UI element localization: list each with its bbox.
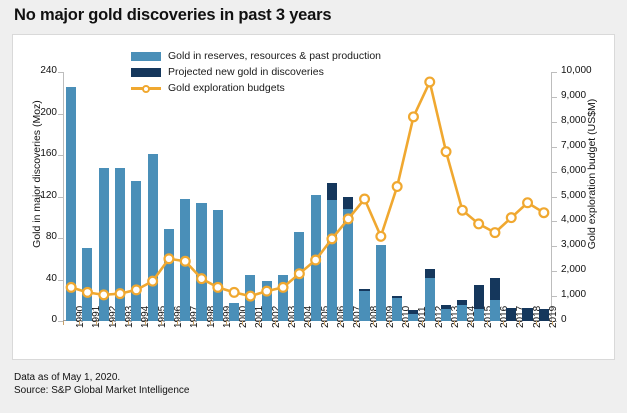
x-axis-tick (259, 321, 260, 325)
budget-line-marker (474, 219, 483, 228)
y-axis-left-tick (58, 114, 63, 115)
x-axis-tick (308, 321, 309, 325)
y-axis-right-title: Gold exploration budget (US$M) (586, 74, 598, 274)
bar-reserves (148, 154, 158, 321)
x-axis-tick (242, 321, 243, 325)
x-axis-tick (405, 321, 406, 325)
budget-line-marker (442, 147, 451, 156)
bar-reserves (457, 305, 467, 321)
x-axis-tick (438, 321, 439, 325)
y-axis-right-label: 5,000 (561, 190, 586, 201)
y-axis-right-tick (552, 221, 557, 222)
bar-reserves (229, 303, 239, 321)
y-axis-right-label: 4,000 (561, 214, 586, 225)
bar-reserves (376, 245, 386, 321)
y-axis-left-tick (58, 155, 63, 156)
bar-projected (359, 289, 369, 291)
bar-reserves (327, 200, 337, 321)
bar-projected (327, 183, 337, 200)
bar-reserves (490, 300, 500, 321)
y-axis-right-tick (552, 147, 557, 148)
bar-projected (392, 296, 402, 298)
y-axis-left-tick (58, 238, 63, 239)
bar-projected (408, 310, 418, 314)
bar-projected (457, 300, 467, 305)
y-axis-left-tick (58, 197, 63, 198)
bar-reserves (294, 232, 304, 321)
x-axis-tick (128, 321, 129, 325)
x-axis-label: 2019 (548, 306, 559, 328)
bar-projected (522, 308, 532, 321)
budget-line-marker (409, 112, 418, 121)
y-axis-right-tick (552, 296, 557, 297)
y-axis-right-tick (552, 271, 557, 272)
y-axis-right-label: 10,000 (561, 65, 592, 76)
page-title: No major gold discoveries in past 3 year… (14, 6, 331, 25)
x-axis-tick (177, 321, 178, 325)
bar-reserves (213, 210, 223, 321)
x-axis-tick (275, 321, 276, 325)
bar-reserves (278, 275, 288, 321)
y-axis-left-label: 80 (46, 231, 57, 242)
bar-reserves (425, 278, 435, 321)
bar-reserves (441, 309, 451, 321)
x-axis-tick (487, 321, 488, 325)
legend-item-reserves: Gold in reserves, resources & past produ… (131, 49, 471, 64)
budget-line-path (71, 82, 544, 296)
x-axis-tick (145, 321, 146, 325)
budget-line-marker (523, 198, 532, 207)
y-axis-right-label: 0 (561, 314, 567, 325)
bar-projected (474, 285, 484, 309)
x-axis-tick (324, 321, 325, 325)
y-axis-right-tick (552, 72, 557, 73)
x-axis-tick (210, 321, 211, 325)
bar-reserves (196, 203, 206, 321)
budget-line-marker (425, 78, 434, 87)
footer-source: Source: S&P Global Market Intelligence (14, 384, 189, 397)
budget-line-marker (491, 228, 500, 237)
x-axis-tick (356, 321, 357, 325)
bar-projected (441, 305, 451, 308)
bar-reserves (115, 168, 125, 321)
budget-line-marker (539, 208, 548, 217)
y-axis-left-label: 200 (40, 107, 57, 118)
x-axis-tick (454, 321, 455, 325)
legend-swatch-reserves (131, 52, 161, 61)
bar-reserves (343, 209, 353, 321)
y-axis-right-tick (552, 246, 557, 247)
y-axis-right-label: 1,000 (561, 289, 586, 300)
bar-projected (490, 278, 500, 300)
x-axis-tick (536, 321, 537, 325)
y-axis-left-line (63, 72, 64, 321)
x-axis-tick (503, 321, 504, 325)
x-axis-tick (373, 321, 374, 325)
x-axis-tick (519, 321, 520, 325)
bar-reserves (164, 229, 174, 321)
y-axis-right-label: 8,000 (561, 115, 586, 126)
bar-reserves (245, 275, 255, 321)
y-axis-right-label: 3,000 (561, 239, 586, 250)
x-axis-tick (112, 321, 113, 325)
y-axis-left-title: Gold in major discoveries (Moz) (31, 74, 43, 274)
y-axis-right-tick (552, 122, 557, 123)
x-axis-tick (96, 321, 97, 325)
y-axis-right-tick (552, 197, 557, 198)
bar-reserves (82, 248, 92, 321)
x-axis-tick (161, 321, 162, 325)
bar-reserves (99, 168, 109, 321)
chart-screenshot: No major gold discoveries in past 3 year… (0, 0, 627, 413)
bar-reserves (311, 195, 321, 321)
budget-line-marker (360, 195, 369, 204)
plot-area: 04080120160200240 01,0002,0003,0004,0005… (63, 72, 552, 321)
y-axis-left-tick (58, 280, 63, 281)
y-axis-left-tick (58, 72, 63, 73)
x-axis-tick (422, 321, 423, 325)
y-axis-left-label: 240 (40, 65, 57, 76)
y-axis-right-label: 6,000 (561, 165, 586, 176)
x-axis-tick (389, 321, 390, 325)
y-axis-left-label: 160 (40, 148, 57, 159)
budget-line-marker (230, 288, 239, 297)
bar-reserves (359, 291, 369, 321)
x-axis-tick (340, 321, 341, 325)
x-axis-tick (79, 321, 80, 325)
bar-projected (425, 269, 435, 278)
budget-line-marker (393, 182, 402, 191)
y-axis-left-label: 40 (46, 273, 57, 284)
y-axis-right-tick (552, 172, 557, 173)
legend-label-reserves: Gold in reserves, resources & past produ… (168, 51, 381, 62)
bar-reserves (408, 314, 418, 321)
x-axis-tick (291, 321, 292, 325)
y-axis-left-label: 0 (51, 314, 57, 325)
bar-reserves (66, 87, 76, 321)
bar-projected (539, 309, 549, 321)
chart-footer: Data as of May 1, 2020. Source: S&P Glob… (14, 371, 189, 397)
bar-projected (343, 197, 353, 209)
x-axis-tick (193, 321, 194, 325)
footer-data-date: Data as of May 1, 2020. (14, 371, 189, 384)
budget-line-marker (507, 213, 516, 222)
y-axis-right-label: 7,000 (561, 140, 586, 151)
budget-line-marker (458, 206, 467, 215)
y-axis-right-tick (552, 97, 557, 98)
bar-reserves (262, 281, 272, 321)
x-axis-tick (471, 321, 472, 325)
bar-reserves (180, 199, 190, 321)
chart-card: Gold in reserves, resources & past produ… (12, 34, 615, 360)
bar-reserves (392, 298, 402, 321)
x-axis-tick (552, 321, 553, 325)
title-band: No major gold discoveries in past 3 year… (0, 0, 627, 34)
budget-line-marker (376, 232, 385, 241)
y-axis-left-label: 120 (40, 190, 57, 201)
bar-reserves (474, 309, 484, 321)
y-axis-right-label: 9,000 (561, 90, 586, 101)
x-axis-tick (63, 321, 64, 325)
x-axis-tick (226, 321, 227, 325)
bar-projected (506, 308, 516, 321)
y-axis-right-label: 2,000 (561, 264, 586, 275)
bar-reserves (131, 181, 141, 321)
